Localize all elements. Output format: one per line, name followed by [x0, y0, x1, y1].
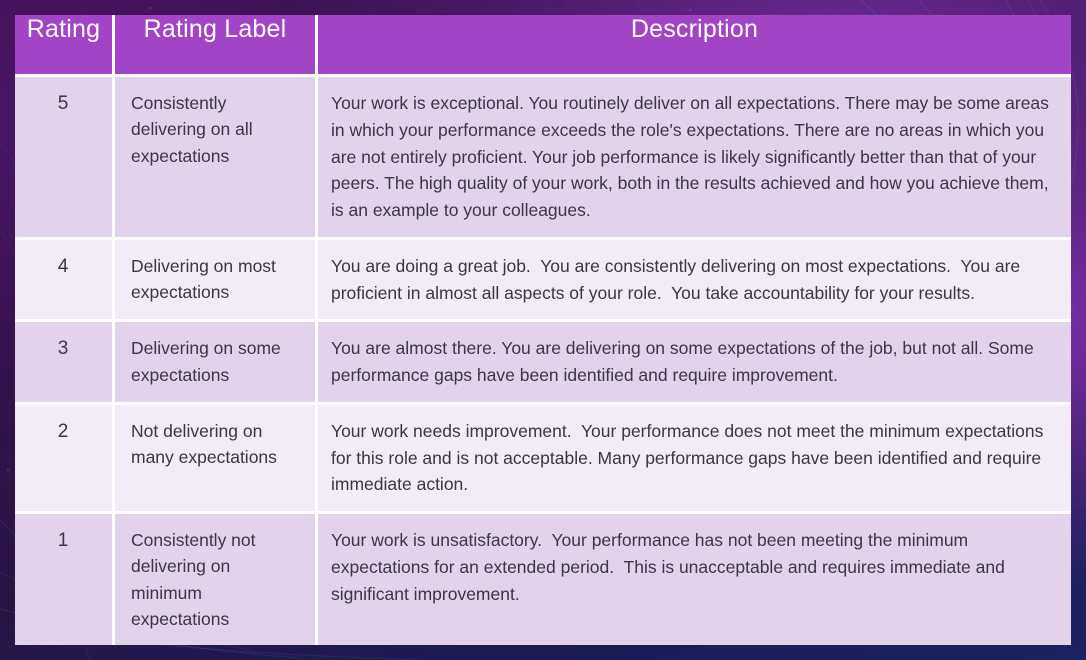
cell-rating-label: Delivering on some expectations: [115, 322, 318, 405]
cell-description: Your work is exceptional. You routinely …: [318, 77, 1071, 240]
column-header-description: Description: [318, 15, 1071, 77]
cell-rating: 5: [15, 77, 115, 240]
cell-rating-label: Not delivering on many expectations: [115, 405, 318, 514]
table-row: 2Not delivering on many expectationsYour…: [15, 405, 1071, 514]
cell-rating: 3: [15, 322, 115, 405]
cell-description: Your work is unsatisfactory. Your perfor…: [318, 514, 1071, 645]
table-body: 5Consistently delivering on all expectat…: [15, 77, 1071, 645]
table-header: Rating Rating Label Description: [15, 15, 1071, 77]
cell-rating-label: Consistently not delivering on minimum e…: [115, 514, 318, 645]
rating-scale-table: Rating Rating Label Description 5Consist…: [15, 15, 1071, 645]
table-row: 1Consistently not delivering on minimum …: [15, 514, 1071, 645]
table-row: 5Consistently delivering on all expectat…: [15, 77, 1071, 240]
cell-description: Your work needs improvement. Your perfor…: [318, 405, 1071, 514]
cell-rating-label: Delivering on most expectations: [115, 240, 318, 323]
column-header-rating-label: Rating Label: [115, 15, 318, 77]
table-row: 3Delivering on some expectationsYou are …: [15, 322, 1071, 405]
cell-rating-label: Consistently delivering on all expectati…: [115, 77, 318, 240]
cell-rating: 4: [15, 240, 115, 323]
table-header-row: Rating Rating Label Description: [15, 15, 1071, 77]
rating-scale-table-container: Rating Rating Label Description 5Consist…: [15, 15, 1071, 645]
cell-rating: 2: [15, 405, 115, 514]
table-row: 4Delivering on most expectationsYou are …: [15, 240, 1071, 323]
cell-rating: 1: [15, 514, 115, 645]
cell-description: You are doing a great job. You are consi…: [318, 240, 1071, 323]
cell-description: You are almost there. You are delivering…: [318, 322, 1071, 405]
column-header-rating: Rating: [15, 15, 115, 77]
